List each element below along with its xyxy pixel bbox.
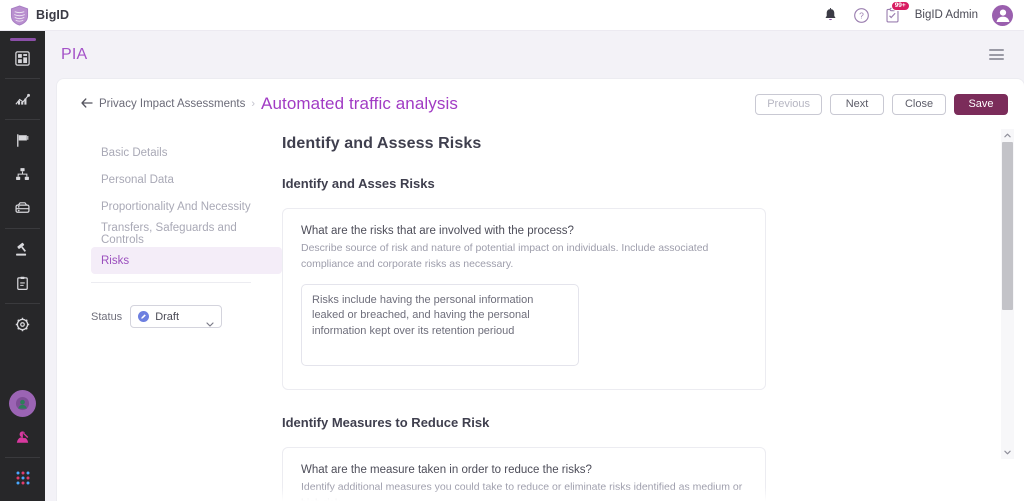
- user-circle-icon: [9, 390, 36, 417]
- apps-dots-grid-icon: [15, 470, 31, 486]
- hamburger-menu-icon[interactable]: [989, 49, 1004, 60]
- previous-button[interactable]: Previous: [755, 94, 822, 115]
- notifications-bell-icon[interactable]: [822, 7, 839, 24]
- rail-item-policies[interactable]: [0, 123, 45, 157]
- tasks-badge-count: 99+: [891, 1, 910, 12]
- section-heading-reduce-risk: Identify Measures to Reduce Risk: [282, 415, 1024, 430]
- form-nav-divider: [91, 282, 251, 283]
- rail-item-privacy-portal[interactable]: [0, 420, 45, 454]
- rail-group-governance: [0, 232, 45, 300]
- help-question-icon[interactable]: ?: [853, 7, 870, 24]
- scroll-up-arrow-icon[interactable]: [1001, 129, 1014, 142]
- breadcrumb: Privacy Impact Assessments › Automated t…: [81, 94, 458, 114]
- flag-icon: [14, 132, 31, 149]
- fnav-label: Basic Details: [101, 147, 167, 159]
- brand-name: BigID: [36, 8, 69, 22]
- rail-item-governance[interactable]: [0, 232, 45, 266]
- close-button[interactable]: Close: [892, 94, 946, 115]
- rail-item-profile-circle[interactable]: [0, 386, 45, 420]
- rail-item-catalog[interactable]: [0, 157, 45, 191]
- database-icon: [14, 200, 31, 217]
- svg-text:?: ?: [859, 10, 864, 20]
- fnav-label: Proportionality And Necessity: [101, 201, 251, 213]
- section-heading-identify-assess: Identify and Asses Risks: [282, 176, 1024, 191]
- arrow-left-icon[interactable]: [81, 98, 93, 110]
- question-card-risks: What are the risks that are involved wit…: [282, 208, 766, 390]
- rail-group-primary: [0, 41, 45, 116]
- rail-divider: [5, 119, 40, 120]
- sidebar-item-basic-details[interactable]: Basic Details: [91, 139, 282, 166]
- question-description: Identify additional measures you could t…: [301, 479, 747, 501]
- question-description: Describe source of risk and nature of po…: [301, 240, 747, 273]
- rail-item-dashboard[interactable]: [0, 41, 45, 75]
- draft-pencil-icon: [138, 311, 149, 322]
- dashboard-grid-icon: [14, 50, 31, 67]
- privacy-portal-icon: [14, 429, 31, 446]
- rail-group-settings: [0, 307, 45, 341]
- breadcrumb-current-title: Automated traffic analysis: [261, 94, 458, 114]
- form-main: Identify and Assess Risks Identify and A…: [282, 129, 1024, 501]
- status-value: Draft: [155, 311, 179, 323]
- fnav-label: Transfers, Safeguards and Controls: [101, 222, 272, 246]
- rail-group-data: [0, 123, 45, 225]
- rail-divider: [5, 228, 40, 229]
- next-button[interactable]: Next: [830, 94, 884, 115]
- sidebar-item-proportionality[interactable]: Proportionality And Necessity: [91, 193, 282, 220]
- left-nav-rail: [0, 31, 45, 501]
- sidebar-item-personal-data[interactable]: Personal Data: [91, 166, 282, 193]
- question-label: What are the risks that are involved wit…: [301, 225, 747, 237]
- gavel-icon: [14, 241, 31, 258]
- sidebar-item-transfers[interactable]: Transfers, Safeguards and Controls: [91, 220, 282, 247]
- save-button[interactable]: Save: [954, 94, 1008, 115]
- rail-item-assessments[interactable]: [0, 266, 45, 300]
- brand[interactable]: BigID: [0, 5, 69, 26]
- topbar-actions: ? 99+ BigID Admin: [822, 5, 1024, 26]
- card-header: Privacy Impact Assessments › Automated t…: [57, 79, 1024, 129]
- status-label: Status: [91, 311, 122, 323]
- hierarchy-icon: [14, 166, 31, 183]
- assessment-card: Privacy Impact Assessments › Automated t…: [57, 79, 1024, 501]
- status-row: Status Draft: [91, 305, 282, 328]
- rail-item-apps[interactable]: [0, 461, 45, 495]
- fnav-label: Personal Data: [101, 174, 174, 186]
- page-heading: Identify and Assess Risks: [282, 135, 1024, 153]
- user-name-label: BigID Admin: [915, 9, 978, 21]
- bar-chart-icon: [14, 91, 31, 108]
- rail-divider: [5, 78, 40, 79]
- rail-item-data-sources[interactable]: [0, 191, 45, 225]
- tasks-clipboard-icon[interactable]: 99+: [884, 7, 901, 24]
- rail-divider: [5, 457, 40, 458]
- top-app-bar: BigID ? 99+ BigID Admin: [0, 0, 1024, 31]
- sidebar-item-risks[interactable]: Risks: [91, 247, 282, 274]
- clipboard-icon: [14, 275, 31, 292]
- bigid-shield-logo-icon: [10, 5, 29, 26]
- scroll-track[interactable]: [1001, 142, 1014, 446]
- page-header: PIA: [45, 31, 1024, 78]
- fnav-label: Risks: [101, 255, 129, 267]
- rail-item-insights[interactable]: [0, 82, 45, 116]
- question-card-measures: What are the measure taken in order to r…: [282, 447, 766, 501]
- chevron-down-icon: [206, 314, 214, 319]
- card-body: Basic Details Personal Data Proportional…: [57, 129, 1024, 501]
- breadcrumb-parent-link[interactable]: Privacy Impact Assessments: [99, 98, 245, 110]
- user-avatar-icon[interactable]: [992, 5, 1013, 26]
- gear-icon: [14, 316, 31, 333]
- scroll-down-arrow-icon[interactable]: [1001, 446, 1014, 459]
- header-actions: Previous Next Close Save: [755, 94, 1008, 115]
- page-title: PIA: [61, 46, 87, 64]
- page-container: PIA Privacy Impact Assessments › Automat…: [45, 31, 1024, 501]
- breadcrumb-separator: ›: [251, 98, 255, 110]
- form-section-nav: Basic Details Personal Data Proportional…: [57, 129, 282, 501]
- content-scrollbar[interactable]: [1001, 129, 1014, 459]
- rail-divider: [5, 303, 40, 304]
- scroll-thumb[interactable]: [1002, 142, 1013, 310]
- status-dropdown[interactable]: Draft: [130, 305, 222, 328]
- question-label: What are the measure taken in order to r…: [301, 464, 747, 476]
- rail-item-settings[interactable]: [0, 307, 45, 341]
- risks-answer-textarea[interactable]: [301, 284, 579, 366]
